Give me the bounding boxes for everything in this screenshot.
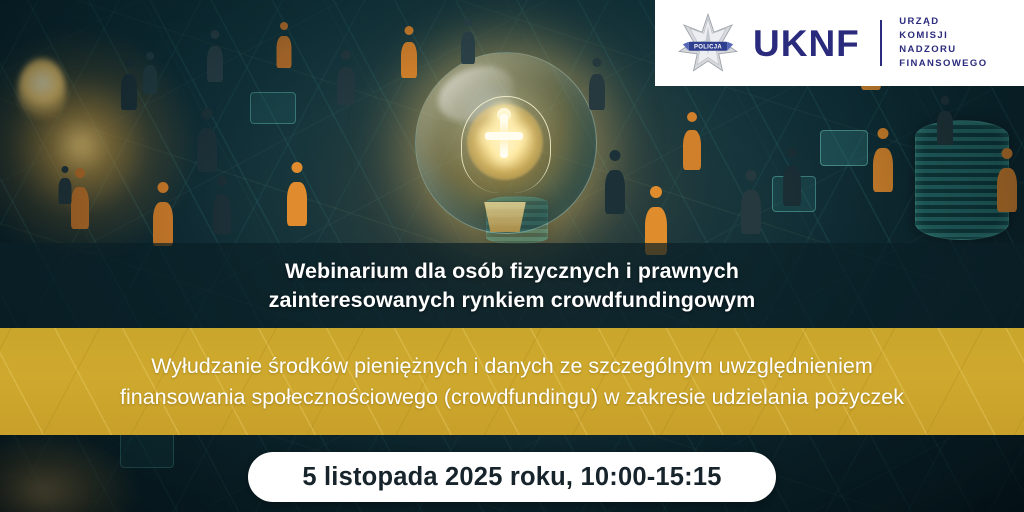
subtitle-line-2: finansowania społecznościowego (crowdfun… — [120, 382, 904, 413]
page-title-line-1: Webinarium dla osób fizycznych i prawnyc… — [285, 257, 739, 286]
logo-bar: POLICJA UKNF URZĄD KOMISJI NADZORU FINAN… — [655, 0, 1024, 86]
page-title-line-2: zainteresowanych rynkiem crowdfundingowy… — [269, 286, 756, 315]
date-badge: 5 listopada 2025 roku, 10:00-15:15 — [248, 452, 776, 502]
uknf-full-name-line-2: KOMISJI — [899, 29, 987, 43]
policja-star-icon: POLICJA — [677, 13, 739, 73]
webinar-banner: POLICJA UKNF URZĄD KOMISJI NADZORU FINAN… — [0, 0, 1024, 512]
uknf-full-name-line-4: FINANSOWEGO — [899, 57, 987, 71]
date-badge-text: 5 listopada 2025 roku, 10:00-15:15 — [302, 463, 721, 492]
logo-divider — [880, 20, 883, 66]
policja-emblem-label: POLICJA — [694, 45, 722, 51]
uknf-full-name-line-3: NADZORU — [899, 43, 987, 57]
uknf-acronym: UKNF — [753, 25, 860, 62]
uknf-full-name-line-1: URZĄD — [899, 15, 987, 29]
title-band: Webinarium dla osób fizycznych i prawnyc… — [0, 243, 1024, 328]
uknf-full-name: URZĄD KOMISJI NADZORU FINANSOWEGO — [899, 15, 987, 71]
subtitle-line-1: Wyłudzanie środków pieniężnych i danych … — [151, 351, 873, 382]
subtitle-band: Wyłudzanie środków pieniężnych i danych … — [0, 328, 1024, 435]
